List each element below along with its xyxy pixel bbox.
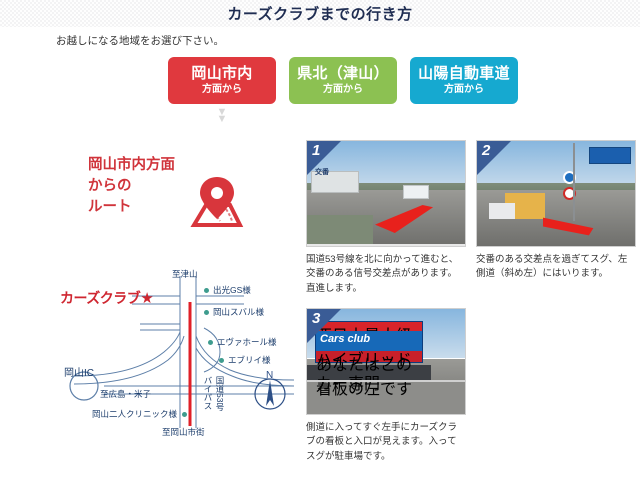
step-photo-1: 交番 1	[306, 140, 466, 247]
step-number-1: 1	[312, 142, 320, 159]
step-number-2: 2	[482, 142, 490, 159]
step-item-2: 2 交番のある交差点を過ぎてスグ、左側道（斜め左）にはいります。	[476, 140, 636, 282]
map-pin-icon	[186, 175, 248, 230]
step-caption-2: 交番のある交差点を過ぎてスグ、左側道（斜め左）にはいります。	[476, 253, 636, 282]
map-marker-idemitsu	[204, 288, 209, 293]
region-button-sublabel: 方面から	[202, 85, 242, 96]
step-photo-2: 2	[476, 140, 636, 247]
step-item-1: 交番 1 国道53号線を北に向かって進むと、交番のある信号交差点があります。直進…	[306, 140, 466, 296]
route-map: カーズクラブ★ 至津山 至岡山市街 至広島・米子 岡山IC 出光GS様 岡山スバ…	[44, 266, 306, 438]
map-marker-subaru	[204, 310, 209, 315]
map-label-evahall: エヴァホール様	[217, 336, 277, 348]
map-store-star-icon: ★	[140, 290, 153, 307]
page-header: カーズクラブまでの行き方	[0, 0, 640, 28]
step-photo-3: 西日本最大級 ハイブリッドカー専門 Cars club あなたはこの看板の左です…	[306, 308, 466, 415]
step-number-3: 3	[312, 310, 320, 327]
map-label-okayama-ic: 岡山IC	[64, 364, 94, 379]
region-button-label: 県北（津山）	[297, 66, 389, 82]
region-button-kenpoku-tsuyama[interactable]: 県北（津山） 方面から	[289, 57, 397, 104]
map-label-everyi: エブリイ様	[228, 354, 271, 366]
map-store-label: カーズクラブ★	[60, 288, 153, 308]
page-title: カーズクラブまでの行き方	[227, 3, 412, 24]
route-heading: 岡山市内方面 からの ルート	[88, 155, 175, 218]
map-label-clinic: 岡山二人クリニック様	[92, 408, 177, 420]
selected-tab-arrow-icon: ▼▼	[212, 109, 232, 123]
region-button-sanyo-expressway[interactable]: 山陽自動車道 方面から	[410, 57, 518, 104]
map-label-route53: 国道53号	[214, 376, 226, 411]
map-label-bypass: バイパス	[202, 376, 214, 410]
map-label-subaru: 岡山スバル様	[213, 306, 264, 318]
map-label-tsuyama: 至津山	[172, 268, 198, 280]
region-button-sublabel: 方面から	[323, 85, 363, 96]
lead-text: お越しになる地域をお選び下さい。	[56, 33, 224, 48]
region-button-okayama-city[interactable]: 岡山市内 方面から	[168, 57, 276, 104]
map-compass-north-icon: N	[266, 370, 273, 381]
billboard-bottom-text: あなたはこの看板の左です	[316, 351, 422, 362]
map-label-hiroshima-yonago: 至広島・米子	[100, 388, 151, 400]
route-heading-line2: からの	[88, 176, 175, 197]
route-heading-line3: ルート	[88, 197, 175, 218]
region-button-label: 岡山市内	[191, 66, 252, 82]
region-button-sublabel: 方面から	[444, 85, 484, 96]
map-label-idemitsu: 出光GS様	[213, 284, 251, 296]
region-button-label: 山陽自動車道	[418, 66, 510, 82]
map-marker-everyi	[219, 358, 224, 363]
route-heading-line1: 岡山市内方面	[88, 155, 175, 176]
region-selector: 岡山市内 方面から 県北（津山） 方面から 山陽自動車道 方面から	[168, 57, 518, 104]
map-marker-clinic	[182, 412, 187, 417]
map-label-okayama-city: 至岡山市街	[162, 426, 205, 438]
step-item-3: 西日本最大級 ハイブリッドカー専門 Cars club あなたはこの看板の左です…	[306, 308, 466, 464]
map-marker-evahall	[208, 340, 213, 345]
step-caption-3: 側道に入ってすぐ左手にカーズクラブの看板と入口が見えます。入ってスグが駐車場です…	[306, 421, 466, 464]
step-caption-1: 国道53号線を北に向かって進むと、交番のある信号交差点があります。直進します。	[306, 253, 466, 296]
